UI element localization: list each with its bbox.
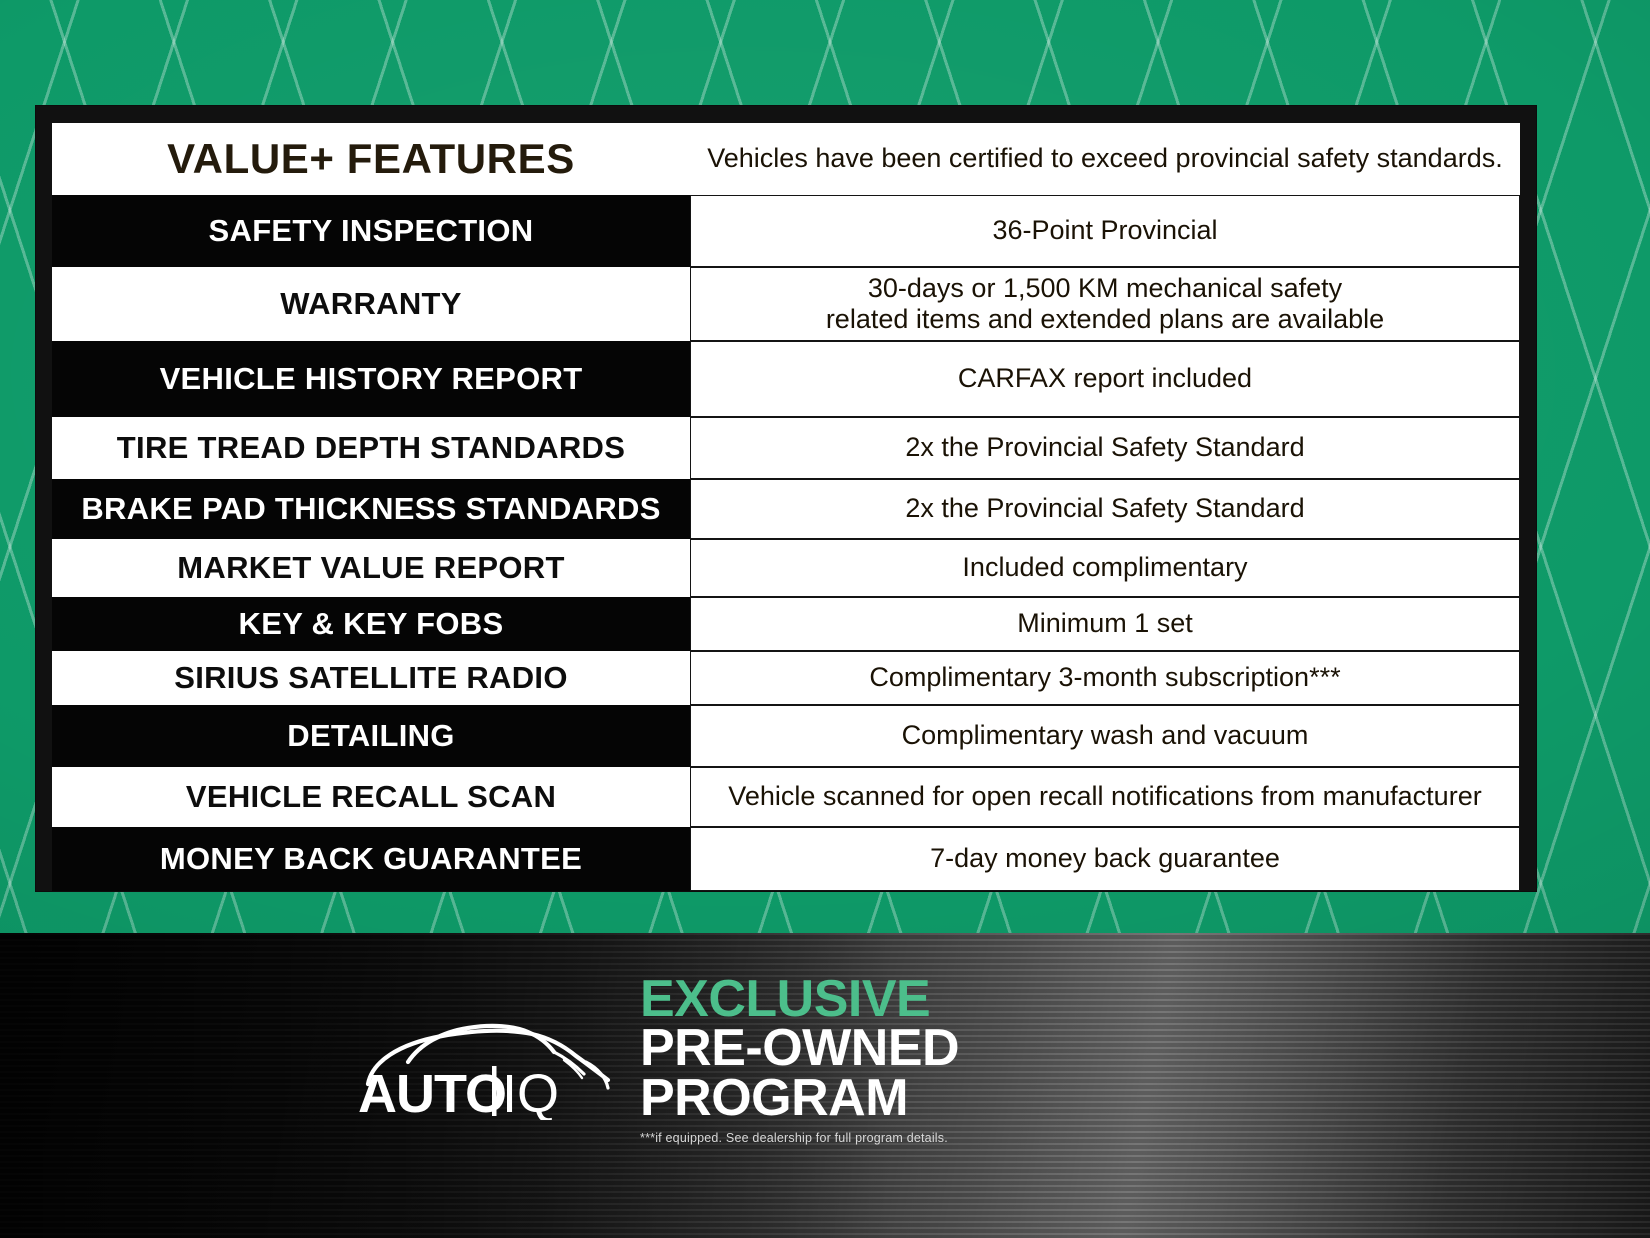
poster-canvas: have been certified to exceed provincial… (0, 0, 1650, 1238)
table-row: VEHICLE HISTORY REPORTCARFAX report incl… (52, 341, 1520, 417)
feature-label: VEHICLE HISTORY REPORT (52, 341, 690, 417)
table-row: SIRIUS SATELLITE RADIOComplimentary 3-mo… (52, 651, 1520, 705)
feature-value: 2x the Provincial Safety Standard (690, 479, 1520, 539)
feature-label: SAFETY INSPECTION (52, 195, 690, 267)
table-row: KEY & KEY FOBSMinimum 1 set (52, 597, 1520, 651)
feature-label: DETAILING (52, 705, 690, 767)
feature-value: 7-day money back guarantee (690, 827, 1520, 891)
feature-label: KEY & KEY FOBS (52, 597, 690, 651)
table-row: BRAKE PAD THICKNESS STANDARDS2x the Prov… (52, 479, 1520, 539)
feature-label: MARKET VALUE REPORT (52, 539, 690, 597)
feature-value: 36-Point Provincial (690, 195, 1520, 267)
feature-value: Complimentary wash and vacuum (690, 705, 1520, 767)
logo-word-iq: IQ (502, 1064, 559, 1120)
table-row: DETAILINGComplimentary wash and vacuum (52, 705, 1520, 767)
feature-value-line2: related items and extended plans are ava… (826, 304, 1384, 335)
feature-label: VEHICLE RECALL SCAN (52, 767, 690, 827)
table-row: TIRE TREAD DEPTH STANDARDS2x the Provinc… (52, 417, 1520, 479)
autoiq-logo: AUTO IQ (350, 1000, 630, 1120)
table-row: VEHICLE RECALL SCANVehicle scanned for o… (52, 767, 1520, 827)
headline-pre-owned: PRE-OWNED (640, 1024, 1400, 1073)
feature-value: Included complimentary (690, 539, 1520, 597)
table-row: MONEY BACK GUARANTEE7-day money back gua… (52, 827, 1520, 891)
table-header-row: VALUE+ FEATURESVehicles have been certif… (52, 123, 1520, 195)
table-row: SAFETY INSPECTION36-Point Provincial (52, 195, 1520, 267)
logo-divider-bar (492, 1066, 497, 1116)
banner-headline-block: EXCLUSIVE PRE-OWNED PROGRAM ***if equipp… (640, 975, 1400, 1158)
autoiq-logo-svg: AUTO IQ (350, 1000, 630, 1120)
feature-value: Vehicle scanned for open recall notifica… (690, 767, 1520, 827)
feature-value: 2x the Provincial Safety Standard (690, 417, 1520, 479)
feature-value: CARFAX report included (690, 341, 1520, 417)
feature-label: MONEY BACK GUARANTEE (52, 827, 690, 891)
feature-value: Minimum 1 set (690, 597, 1520, 651)
features-table-card: have been certified to exceed provincial… (36, 106, 1536, 891)
table-row: MARKET VALUE REPORTIncluded complimentar… (52, 539, 1520, 597)
features-grid: VALUE+ FEATURESVehicles have been certif… (52, 123, 1520, 874)
features-table: have been certified to exceed provincial… (52, 123, 1520, 874)
feature-value: 30-days or 1,500 KM mechanical safetyrel… (690, 267, 1520, 341)
table-row: WARRANTY30-days or 1,500 KM mechanical s… (52, 267, 1520, 341)
page-title: VALUE+ FEATURES (52, 123, 690, 195)
logo-word-auto: AUTO (358, 1064, 506, 1120)
table-subtitle: Vehicles have been certified to exceed p… (690, 123, 1520, 195)
feature-label: WARRANTY (52, 267, 690, 341)
feature-value: Complimentary 3-month subscription*** (690, 651, 1520, 705)
banner-fineprint: ***if equipped. See dealership for full … (640, 1131, 1400, 1145)
headline-exclusive: EXCLUSIVE (640, 975, 1400, 1024)
feature-label: TIRE TREAD DEPTH STANDARDS (52, 417, 690, 479)
headline-program: PROGRAM (640, 1074, 1400, 1123)
feature-value-line1: 30-days or 1,500 KM mechanical safety (826, 273, 1384, 304)
feature-label: SIRIUS SATELLITE RADIO (52, 651, 690, 705)
feature-label: BRAKE PAD THICKNESS STANDARDS (52, 479, 690, 539)
